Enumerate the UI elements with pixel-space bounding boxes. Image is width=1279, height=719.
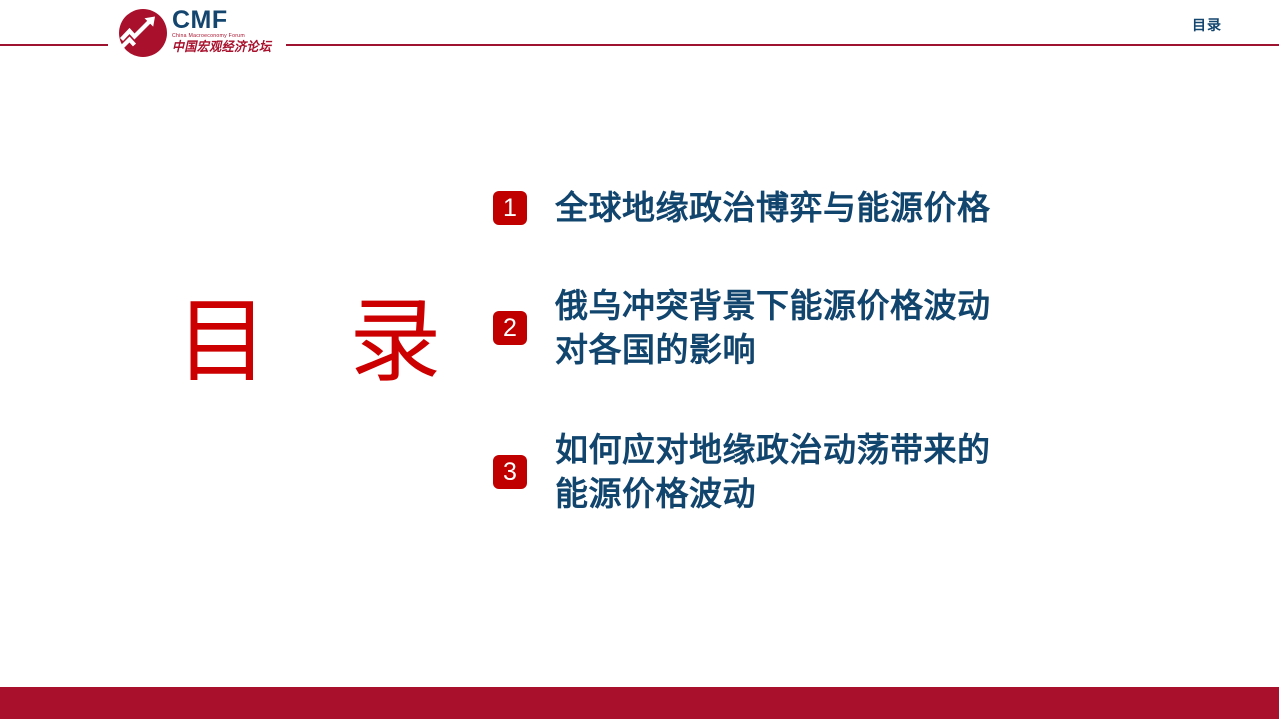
cmf-subtitle-en: China Macroeconomy Forum (172, 33, 292, 40)
agenda-item-1[interactable]: 1 全球地缘政治博弈与能源价格 (493, 160, 1133, 256)
section-heading-catalog: 目 录 (150, 288, 410, 396)
footer-bar (0, 687, 1279, 719)
agenda-badge-3: 3 (493, 455, 527, 489)
agenda-label-1: 全球地缘政治博弈与能源价格 (555, 186, 991, 230)
cmf-subtitle-cn: 中国宏观经济论坛 (172, 40, 282, 55)
agenda-list: 1 全球地缘政治博弈与能源价格 2 俄乌冲突背景下能源价格波动 对各国的影响 3… (493, 160, 1133, 544)
cmf-acronym: CMF (172, 7, 292, 33)
page-title: 目录 (1192, 15, 1222, 35)
cmf-logo: CMF China Macroeconomy Forum 中国宏观经济论坛 (118, 6, 288, 62)
cmf-circle-arrow-icon (118, 8, 168, 58)
agenda-item-3[interactable]: 3 如何应对地缘政治动荡带来的 能源价格波动 (493, 400, 1133, 544)
agenda-label-3: 如何应对地缘政治动荡带来的 能源价格波动 (555, 428, 991, 516)
agenda-item-2[interactable]: 2 俄乌冲突背景下能源价格波动 对各国的影响 (493, 256, 1133, 400)
agenda-badge-2: 2 (493, 311, 527, 345)
cmf-logo-wordmark: CMF China Macroeconomy Forum 中国宏观经济论坛 (172, 7, 292, 55)
slide-agenda: CMF China Macroeconomy Forum 中国宏观经济论坛 目录… (0, 0, 1279, 719)
agenda-badge-1: 1 (493, 191, 527, 225)
agenda-label-2: 俄乌冲突背景下能源价格波动 对各国的影响 (555, 284, 991, 372)
